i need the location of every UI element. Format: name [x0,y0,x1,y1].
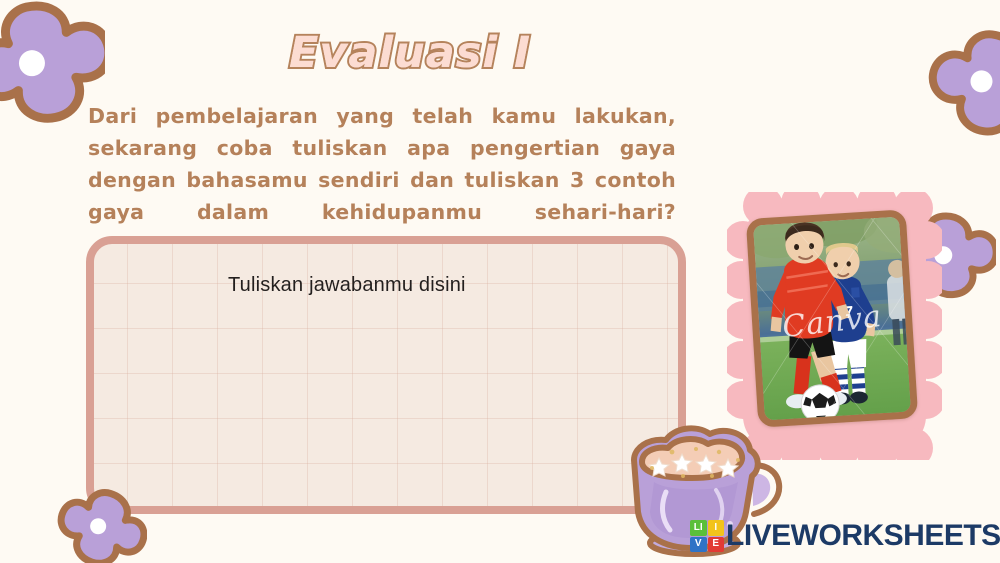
logo-block-e: E [708,537,725,553]
soccer-photo: 7 [746,209,918,427]
answer-placeholder-text: Tuliskan jawabanmu disini [228,274,466,297]
page-title-outline: Evaluasi I [250,28,570,78]
liveworksheets-logo-icon: LI I V E [690,520,724,552]
flower-top-right-icon [924,16,1000,136]
worksheet-page: Evaluasi I Evaluasi I Dari pembelajaran … [0,0,1000,563]
logo-block-v: V [690,537,707,553]
liveworksheets-logo-text: LIVEWORKSHEETS [726,521,1000,551]
liveworksheets-logo[interactable]: LI I V E LIVEWORKSHEETS [690,516,1000,556]
logo-block-i: I [708,520,725,536]
answer-input-box[interactable]: Tuliskan jawabanmu disini [86,236,686,514]
photo-card: 7 [727,192,942,460]
logo-block-li: LI [690,520,707,536]
